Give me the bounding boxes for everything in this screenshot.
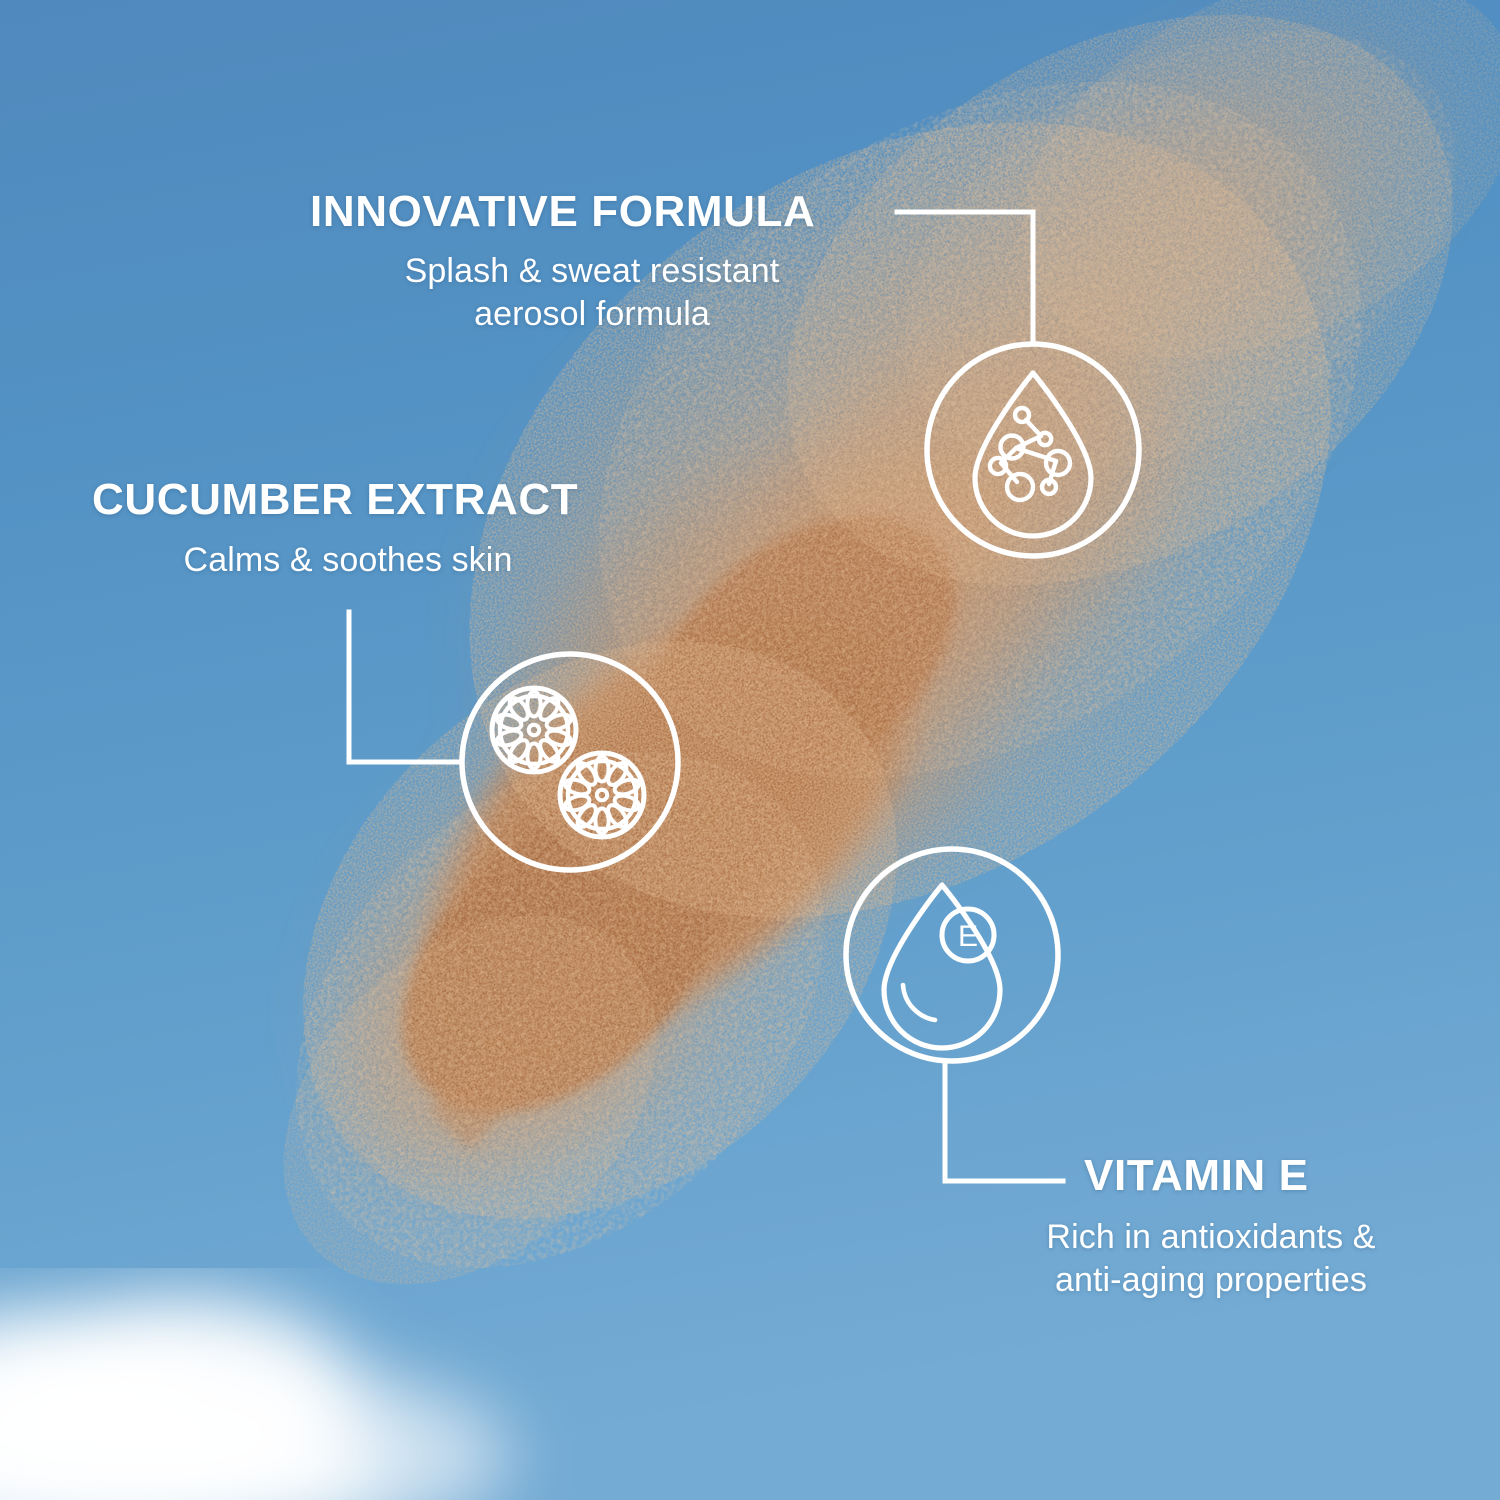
feature-text-vitamin-e: VITAMIN E Rich in antioxidants & anti-ag… [1084, 1153, 1427, 1301]
feature-text-cucumber-extract: CUCUMBER EXTRACT Calms & soothes skin [92, 477, 608, 582]
description-line-1: Calms & soothes skin [88, 539, 608, 582]
infographic-canvas: E INNOVATIVE FORMULA Splash & sweat resi… [0, 0, 1500, 1500]
description-line-1: Splash & sweat resistant [298, 250, 886, 293]
description-line-2: anti-aging properties [995, 1259, 1427, 1302]
feature-description-cucumber-extract: Calms & soothes skin [88, 539, 608, 582]
feature-description-innovative-formula: Splash & sweat resistant aerosol formula [298, 250, 886, 336]
description-line-1: Rich in antioxidants & [995, 1216, 1427, 1259]
feature-title-vitamin-e: VITAMIN E [1084, 1153, 1427, 1199]
feature-title-cucumber-extract: CUCUMBER EXTRACT [92, 477, 608, 523]
feature-text-innovative-formula: INNOVATIVE FORMULA Splash & sweat resist… [310, 189, 886, 335]
feature-description-vitamin-e: Rich in antioxidants & anti-aging proper… [995, 1216, 1427, 1302]
feature-title-innovative-formula: INNOVATIVE FORMULA [310, 189, 886, 235]
description-line-2: aerosol formula [298, 293, 886, 336]
